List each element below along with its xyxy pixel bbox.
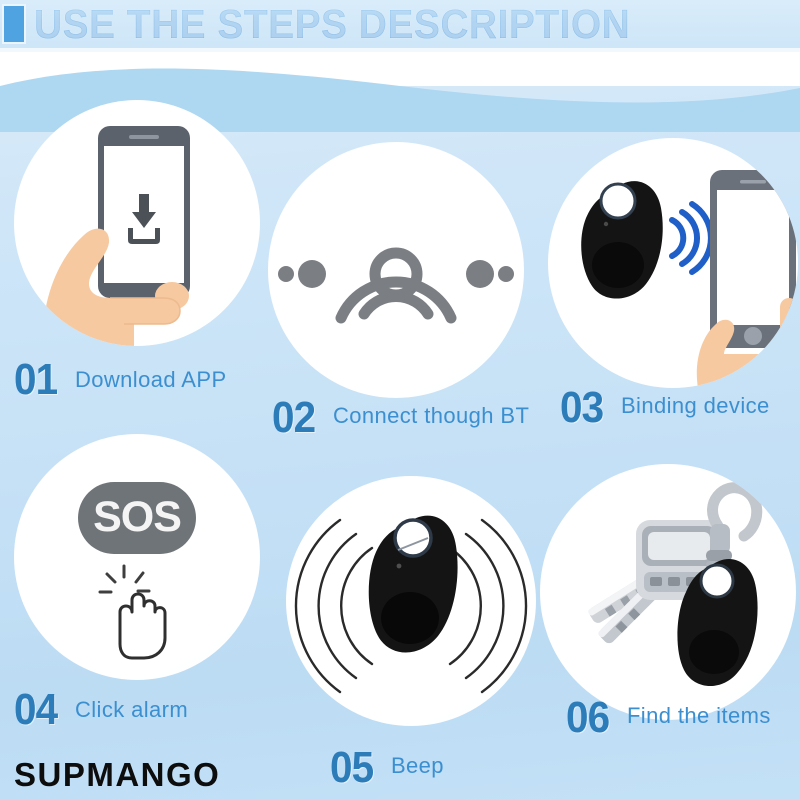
step-5-illustration <box>286 476 536 726</box>
bluetooth-waves <box>672 204 711 272</box>
page-title: USE THE STEPS DESCRIPTION <box>34 1 630 47</box>
infographic-poster: USE THE STEPS DESCRIPTION <box>0 0 800 800</box>
step-5-number: 05 <box>330 746 373 790</box>
step-6-number: 06 <box>566 696 609 740</box>
step-3-number: 03 <box>560 386 603 430</box>
step-1-text: Download APP <box>75 368 227 392</box>
step-5-label: 05 Beep <box>330 746 444 790</box>
tracker-body <box>581 181 663 298</box>
tracker-beeping-icon <box>286 476 536 726</box>
step-1-label: 01 Download APP <box>14 358 227 402</box>
brand-logo: SUPMANGO <box>14 757 220 793</box>
step-2-number: 02 <box>272 396 315 440</box>
tracker-body <box>369 516 458 653</box>
header-accent-square <box>2 4 26 44</box>
tracker-and-phone-pairing-icon <box>548 138 798 388</box>
step-2-illustration <box>268 142 524 398</box>
wireless-signal-icon <box>268 142 524 398</box>
keys-with-tracker-icon <box>540 464 796 720</box>
step-3-illustration <box>548 138 798 388</box>
step-3-label: 03 Binding device <box>560 386 770 430</box>
step-2-label: 02 Connect though BT <box>272 396 529 440</box>
step-5-text: Beep <box>391 754 444 778</box>
sos-button-click-icon: SOS <box>14 434 260 680</box>
step-6-text: Find the items <box>627 704 771 728</box>
step-6-illustration <box>540 464 796 720</box>
step-1-illustration <box>14 100 260 346</box>
step-4-text: Click alarm <box>75 698 188 722</box>
step-4-label: 04 Click alarm <box>14 688 188 732</box>
header-bar: USE THE STEPS DESCRIPTION <box>0 0 800 48</box>
step-3-text: Binding device <box>621 394 770 418</box>
step-4-illustration: SOS <box>14 434 260 680</box>
step-2-text: Connect though BT <box>333 404 529 428</box>
hand-holding-phone-download-icon <box>14 100 260 346</box>
step-6-label: 06 Find the items <box>566 696 771 740</box>
step-4-number: 04 <box>14 688 57 732</box>
svg-text:SOS: SOS <box>93 493 181 541</box>
step-1-number: 01 <box>14 358 57 402</box>
